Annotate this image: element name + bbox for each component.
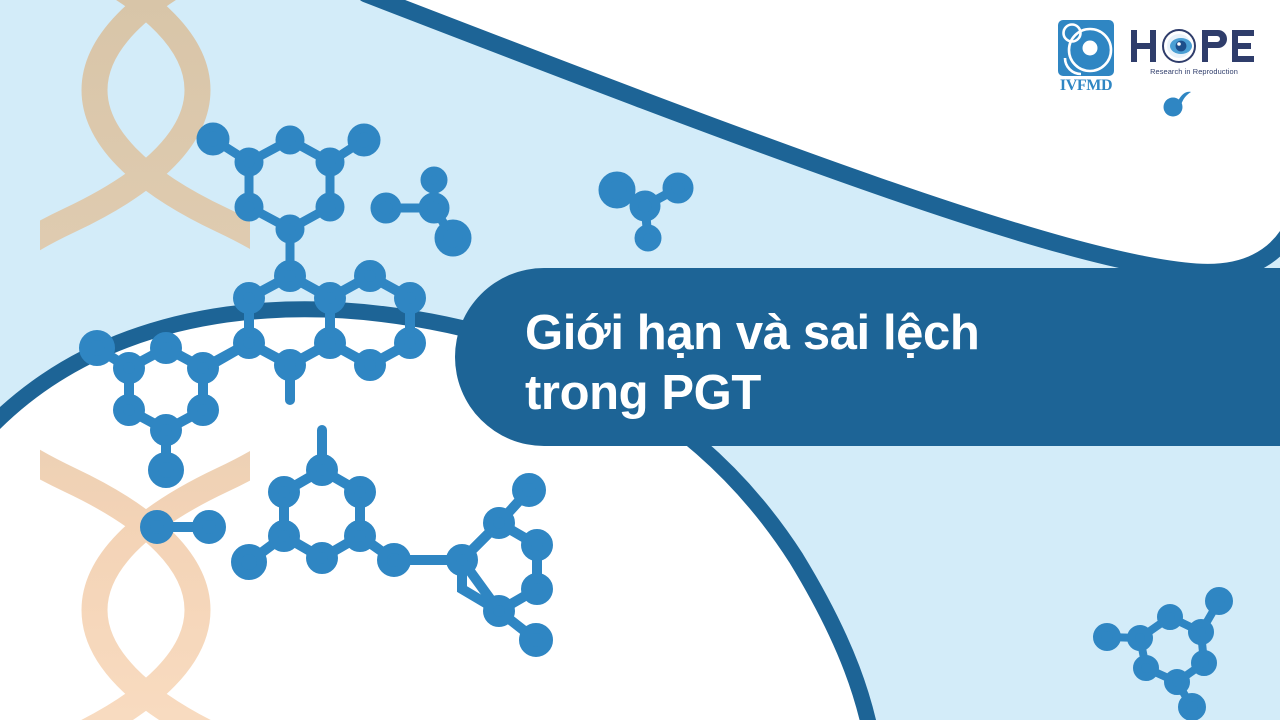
- hope-wordmark: [1128, 26, 1260, 66]
- hope-logo-tagline: Research in Reproduction: [1128, 67, 1260, 76]
- ivfmd-logo-label: IVFMD: [1060, 77, 1112, 94]
- slide-title-line-2: trong PGT: [525, 364, 1280, 424]
- sperm-icon: [1160, 90, 1194, 118]
- slide-title-banner: Giới hạn và sai lệch trong PGT: [455, 268, 1280, 446]
- logo-block: IVFMD: [1048, 8, 1263, 118]
- slide-title-line-1: Giới hạn và sai lệch: [525, 304, 1280, 364]
- hope-logo: Research in Reproduction: [1128, 26, 1260, 88]
- slide-canvas: Giới hạn và sai lệch trong PGT IVFMD: [0, 0, 1280, 720]
- ivfmd-logo: IVFMD: [1054, 18, 1118, 96]
